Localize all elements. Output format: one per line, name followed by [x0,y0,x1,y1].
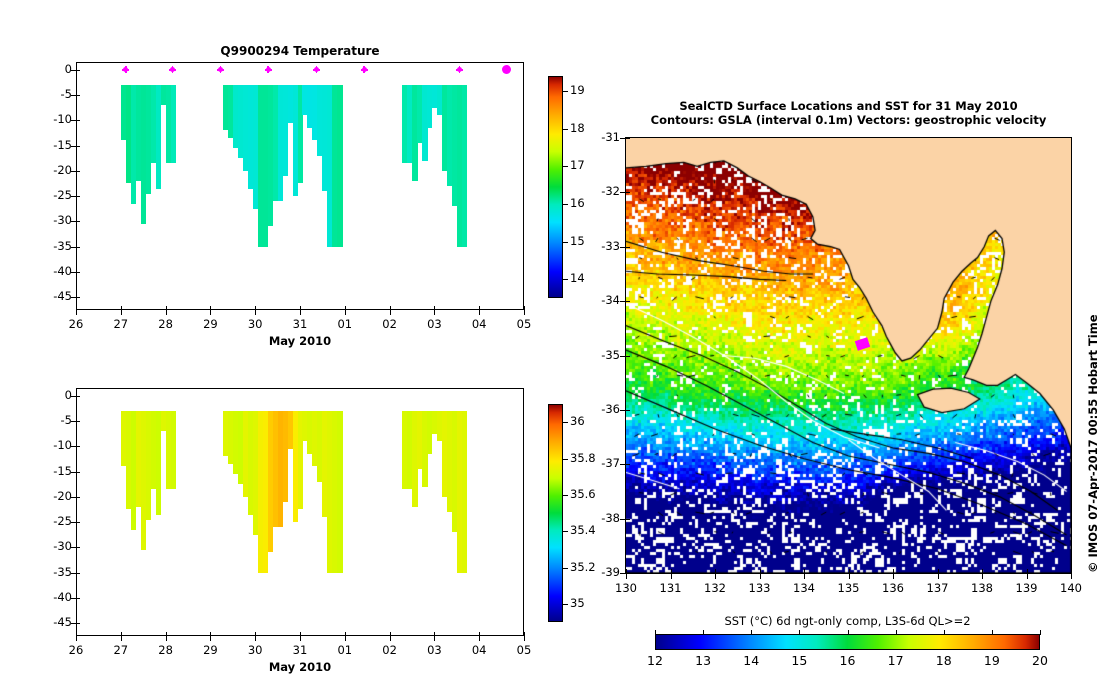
x-tick-label: 29 [188,317,232,331]
map-x-tick-label: 130 [604,581,648,595]
map-y-tick-inner [625,356,630,357]
x-tick-inner [390,306,391,310]
y-tick-inner [76,598,80,599]
map-x-tick [938,574,939,579]
x-tick-inner [345,632,346,636]
y-tick-inner [76,396,80,397]
map-y-tick-inner [625,192,630,193]
x-tick-inner [255,306,256,310]
map-x-tick [849,574,850,579]
x-tick-label: 31 [278,317,322,331]
x-tick-inner [76,306,77,310]
colorbar-tick [563,459,568,460]
y-tick-inner [76,171,80,172]
y-tick-label: -15 [28,464,72,478]
y-tick-label: -35 [28,565,72,579]
map-x-tick [804,574,805,579]
map-y-tick-label: -31 [589,130,620,144]
x-tick-inner [121,632,122,636]
y-tick-label: -5 [28,413,72,427]
x-tick-label: 30 [233,643,277,657]
x-tick-label: 04 [457,643,501,657]
map-y-tick-label: -32 [589,184,620,198]
map-y-tick-inner [625,410,630,411]
surface-location-marker-arm [220,66,222,73]
map-x-tick-label: 137 [916,581,960,595]
map-x-tick-label: 138 [960,581,1004,595]
x-tick-label: 02 [368,643,412,657]
x-tick [166,310,167,315]
x-tick [390,636,391,641]
profile-cell [337,411,343,573]
map-axes-frame [625,137,1072,574]
x-tick-inner [524,632,525,636]
y-tick-label: -20 [28,489,72,503]
x-tick [300,310,301,315]
x-tick-label: 05 [502,317,546,331]
x-tick-inner [300,306,301,310]
y-tick-inner [76,522,80,523]
map-x-tick-label: 139 [1005,581,1049,595]
sst-colorbar-tick-label: 20 [1018,653,1062,668]
y-tick-inner [76,272,80,273]
x-axis-title: May 2010 [76,334,524,348]
map-x-tick-inner [849,569,850,574]
sst-colorbar-title: SST (°C) 6d ngt-only comp, L3S-6d QL>=2 [595,614,1099,628]
map-x-tick-label: 132 [693,581,737,595]
map-x-tick-label: 135 [827,581,871,595]
sst-colorbar-tick [944,630,945,635]
sst-colorbar-tick [799,630,800,635]
y-tick-inner [76,221,80,222]
x-axis-title: May 2010 [76,660,524,674]
sst-colorbar [655,634,1040,650]
map-x-tick [1027,574,1028,579]
sst-colorbar-tick [655,630,656,635]
sst-colorbar-tick [1040,630,1041,635]
x-tick-inner [345,306,346,310]
x-tick-label: 05 [502,643,546,657]
y-tick-label: -10 [28,112,72,126]
sst-colorbar-tick-label: 19 [970,653,1014,668]
y-tick-label: -5 [28,87,72,101]
x-tick [434,636,435,641]
x-tick [479,310,480,315]
sst-colorbar-tick-label: 13 [681,653,725,668]
colorbar-tick-label: 14 [570,271,585,285]
colorbar-tick [563,495,568,496]
temperature-profile-cells [77,63,523,309]
colorbar-tick [563,279,568,280]
y-tick-inner [76,247,80,248]
map-y-tick-label: -37 [589,456,620,470]
map-title-line-2: Contours: GSLA (interval 0.1m) Vectors: … [585,113,1099,127]
y-tick-label: -30 [28,213,72,227]
temperature-colorbar [548,76,563,298]
colorbar-tick-label: 18 [570,121,585,135]
map-x-tick [982,574,983,579]
x-tick-inner [434,306,435,310]
map-y-tick-label: -34 [589,293,620,307]
map-x-tick [671,574,672,579]
x-tick-inner [434,632,435,636]
x-tick-label: 27 [99,643,143,657]
map-x-tick-label: 133 [738,581,782,595]
map-y-tick-inner [625,519,630,520]
colorbar-tick-label: 19 [570,83,585,97]
x-tick [166,636,167,641]
sst-map-canvas [626,138,1071,573]
x-tick-inner [524,306,525,310]
x-tick-label: 03 [412,317,456,331]
x-tick-inner [76,632,77,636]
salinity-colorbar [548,404,563,622]
y-tick-label: -10 [28,438,72,452]
y-tick-label: -20 [28,163,72,177]
y-tick-inner [76,95,80,96]
x-tick-label: 26 [54,317,98,331]
x-tick [524,636,525,641]
map-x-tick-label: 131 [649,581,693,595]
x-tick [210,636,211,641]
map-x-tick [1071,574,1072,579]
map-y-tick-inner [625,301,630,302]
sst-colorbar-tick-label: 12 [633,653,677,668]
y-tick-label: -45 [28,289,72,303]
map-y-tick-label: -36 [589,402,620,416]
x-tick-inner [300,632,301,636]
x-tick [345,310,346,315]
profile-cell [462,411,468,573]
x-tick-inner [479,632,480,636]
x-tick [524,310,525,315]
x-tick [479,636,480,641]
colorbar-tick [563,91,568,92]
x-tick [76,310,77,315]
x-tick [76,636,77,641]
y-tick-label: -35 [28,239,72,253]
map-x-tick-inner [804,569,805,574]
y-tick-label: -15 [28,138,72,152]
y-tick-label: -30 [28,539,72,553]
x-tick-label: 01 [323,643,367,657]
map-x-tick [626,574,627,579]
sst-colorbar-tick [848,630,849,635]
x-tick [300,636,301,641]
y-tick-inner [76,297,80,298]
colorbar-tick-label: 16 [570,196,585,210]
x-tick [210,310,211,315]
map-y-tick-inner [625,138,630,139]
x-tick-label: 02 [368,317,412,331]
x-tick [255,310,256,315]
x-tick-label: 04 [457,317,501,331]
salinity-profile-cells [77,389,523,635]
x-tick [390,310,391,315]
x-tick-label: 27 [99,317,143,331]
profile-cell [462,85,468,247]
y-tick-label: -45 [28,615,72,629]
x-tick-label: 28 [144,643,188,657]
y-tick-label: -25 [28,188,72,202]
y-tick-label: -25 [28,514,72,528]
map-y-tick-label: -35 [589,348,620,362]
colorbar-tick [563,568,568,569]
y-tick-inner [76,472,80,473]
y-tick-inner [76,623,80,624]
x-tick [345,636,346,641]
y-tick-label: 0 [28,62,72,76]
map-y-tick-label: -38 [589,511,620,525]
y-tick-label: 0 [28,388,72,402]
x-tick-label: 26 [54,643,98,657]
surface-location-marker-arm [125,66,127,73]
y-tick-inner [76,196,80,197]
sst-colorbar-tick-label: 14 [729,653,773,668]
x-tick-label: 30 [233,317,277,331]
x-tick-inner [479,306,480,310]
sst-colorbar-tick-label: 16 [826,653,870,668]
colorbar-tick [563,604,568,605]
x-tick-inner [255,632,256,636]
sst-colorbar-tick [703,630,704,635]
surface-location-marker-arm [316,66,318,73]
surface-location-marker-arm [459,66,461,73]
x-tick-label: 28 [144,317,188,331]
colorbar-tick [563,422,568,423]
colorbar-tick [563,166,568,167]
x-tick-inner [210,632,211,636]
map-x-tick-inner [671,569,672,574]
colorbar-tick [563,242,568,243]
x-tick-label: 29 [188,643,232,657]
colorbar-tick-label: 35.6 [570,487,596,501]
map-x-tick-inner [982,569,983,574]
map-x-tick-inner [1027,569,1028,574]
map-y-tick-inner [625,464,630,465]
y-tick-inner [76,497,80,498]
map-x-tick-inner [893,569,894,574]
x-tick-label: 31 [278,643,322,657]
surface-location-marker-arm [267,66,269,73]
profile-cell [171,85,177,163]
map-x-tick-label: 140 [1049,581,1093,595]
map-y-tick-label: -39 [589,565,620,579]
map-y-tick-inner [625,247,630,248]
y-tick-label: -40 [28,264,72,278]
x-tick-inner [166,306,167,310]
y-tick-inner [76,446,80,447]
map-x-tick [715,574,716,579]
temperature-plot-title: Q9900294 Temperature [76,44,524,58]
map-x-tick-inner [715,569,716,574]
map-x-tick [760,574,761,579]
y-tick-inner [76,70,80,71]
map-y-tick-label: -33 [589,239,620,253]
colorbar-tick-label: 36 [570,414,585,428]
sst-colorbar-tick-label: 15 [777,653,821,668]
sst-colorbar-tick [751,630,752,635]
copyright-label: © IMOS 07-Apr-2017 00:55 Hobart Time [1086,314,1099,573]
x-tick-inner [121,306,122,310]
x-tick-inner [166,632,167,636]
x-tick [434,310,435,315]
map-x-tick-label: 136 [871,581,915,595]
x-tick-inner [210,306,211,310]
x-tick-inner [390,632,391,636]
x-tick-label: 03 [412,643,456,657]
x-tick [255,636,256,641]
y-tick-inner [76,421,80,422]
colorbar-tick-label: 35.4 [570,523,596,537]
map-title-line-1: SealCTD Surface Locations and SST for 31… [585,99,1099,113]
map-x-tick-label: 134 [782,581,826,595]
colorbar-tick-label: 35 [570,596,585,610]
colorbar-tick-label: 17 [570,158,585,172]
colorbar-tick [563,204,568,205]
sst-colorbar-tick-label: 17 [874,653,918,668]
y-tick-inner [76,146,80,147]
profile-cell [171,411,177,489]
surface-location-marker-arm [363,66,365,73]
colorbar-tick [563,531,568,532]
y-tick-inner [76,120,80,121]
colorbar-tick [563,129,568,130]
map-x-tick-inner [1071,569,1072,574]
map-x-tick [893,574,894,579]
sst-colorbar-tick-label: 18 [922,653,966,668]
sst-colorbar-tick [992,630,993,635]
x-tick [121,636,122,641]
y-tick-label: -40 [28,590,72,604]
map-x-tick-inner [760,569,761,574]
y-tick-inner [76,573,80,574]
x-tick [121,310,122,315]
surface-location-marker-arm [172,66,174,73]
profile-cell [337,85,343,247]
y-tick-inner [76,547,80,548]
map-y-tick-inner [625,573,630,574]
map-x-tick-inner [938,569,939,574]
x-tick-label: 01 [323,317,367,331]
sst-colorbar-tick [896,630,897,635]
colorbar-tick-label: 15 [570,234,585,248]
